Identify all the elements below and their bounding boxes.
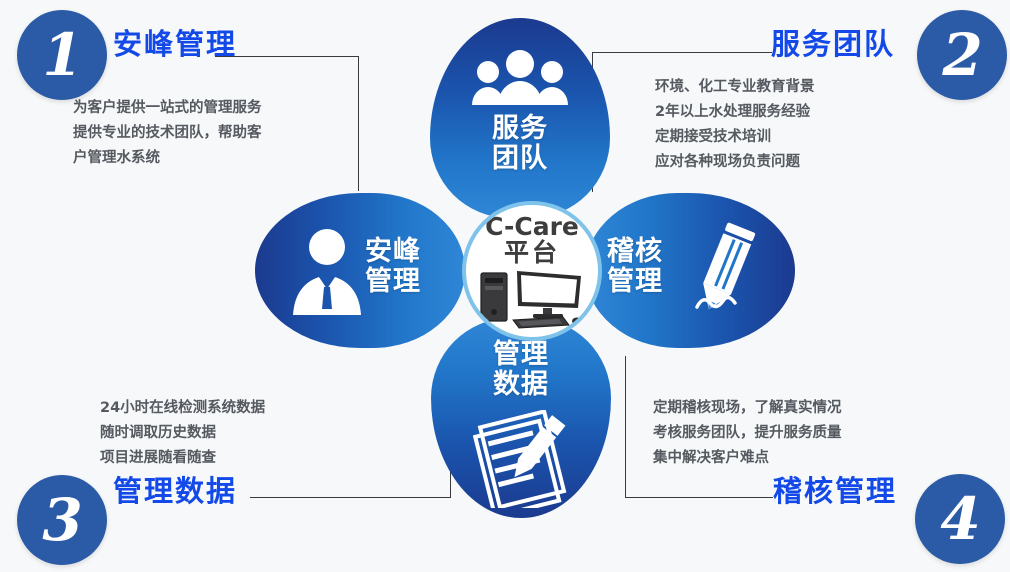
petal-label-line2: 团队 bbox=[430, 144, 610, 174]
petal-label-line1: 管理 bbox=[431, 340, 611, 370]
section-body-3-line-2: 随时调取历史数据 bbox=[100, 421, 265, 446]
petal-label-line2: 数据 bbox=[431, 370, 611, 400]
step-number-badge-2: 2 bbox=[917, 10, 1007, 100]
section-body-3-line-1: 24小时在线检测系统数据 bbox=[100, 396, 265, 421]
center-hub[interactable]: C-Care 平台 bbox=[462, 201, 602, 341]
businessman-icon bbox=[287, 225, 367, 319]
desktop-computer-icon bbox=[477, 267, 587, 333]
section-body-1-line-1: 为客户提供一站式的管理服务 bbox=[73, 96, 262, 121]
petal-label-audit-management: 稽核 管理 bbox=[607, 237, 697, 297]
petal-label-anfeng-management: 安峰 管理 bbox=[365, 237, 460, 297]
petal-label-line2: 管理 bbox=[365, 267, 460, 297]
step-number-badge-3: 3 bbox=[17, 475, 107, 565]
step-number-badge-1: 1 bbox=[17, 10, 107, 100]
section-heading-3: 管理数据 bbox=[113, 468, 237, 510]
infographic-canvas: 1 2 3 4 安峰管理 服务团队 管理数据 稽核管理 为客户提供一站式的管理服… bbox=[0, 0, 1010, 572]
petal-label-line1: 安峰 bbox=[365, 237, 460, 267]
section-body-3: 24小时在线检测系统数据 随时调取历史数据 项目进展随看随查 bbox=[100, 396, 265, 471]
people-group-icon bbox=[470, 50, 570, 109]
document-pencil-icon bbox=[473, 410, 573, 512]
petal-diagram: 服务 团队 稽核 管理 bbox=[255, 18, 795, 518]
section-body-1-line-2: 提供专业的技术团队，帮助客 bbox=[73, 121, 262, 146]
petal-label-line2: 管理 bbox=[607, 267, 697, 297]
petal-label-service-team: 服务 团队 bbox=[430, 114, 610, 174]
petal-audit-management[interactable]: 稽核 管理 bbox=[585, 193, 795, 348]
petal-service-team[interactable]: 服务 团队 bbox=[430, 18, 610, 218]
petal-label-line1: 稽核 bbox=[607, 237, 697, 267]
petal-management-data[interactable]: 管理 数据 bbox=[431, 318, 611, 518]
petal-label-management-data: 管理 数据 bbox=[431, 340, 611, 400]
petal-label-line1: 服务 bbox=[430, 114, 610, 144]
section-body-1-line-3: 户管理水系统 bbox=[73, 146, 262, 171]
petal-anfeng-management[interactable]: 安峰 管理 bbox=[255, 193, 465, 348]
section-body-3-line-3: 项目进展随看随查 bbox=[100, 446, 265, 471]
section-heading-1: 安峰管理 bbox=[113, 21, 237, 63]
hub-title: C-Care bbox=[485, 214, 579, 240]
step-number-badge-4: 4 bbox=[915, 474, 1005, 564]
pencil-icon bbox=[689, 221, 765, 325]
hub-subtitle: 平台 bbox=[504, 240, 560, 266]
section-body-1: 为客户提供一站式的管理服务 提供专业的技术团队，帮助客 户管理水系统 bbox=[73, 96, 262, 171]
